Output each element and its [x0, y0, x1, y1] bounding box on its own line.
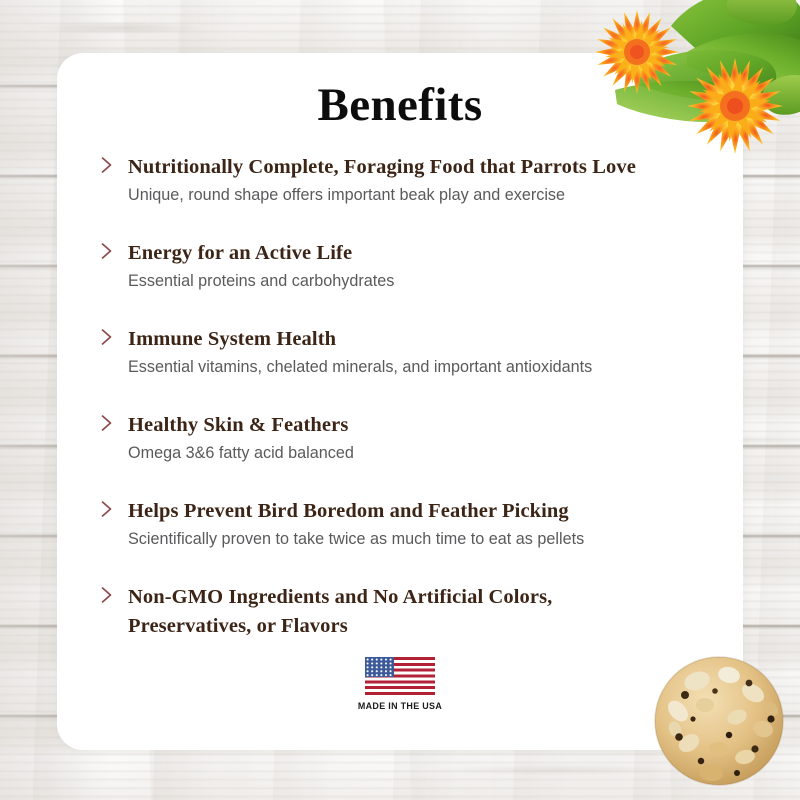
benefit-heading: Non-GMO Ingredients and No Artificial Co…: [128, 583, 719, 641]
benefits-list: Nutritionally Complete, Foraging Food th…: [93, 153, 719, 644]
benefit-subtext: Essential proteins and carbohydrates: [128, 271, 719, 293]
chevron-right-icon: [100, 500, 114, 518]
benefit-item: Healthy Skin & Feathers Omega 3&6 fatty …: [93, 411, 719, 465]
benefit-item: Helps Prevent Bird Boredom and Feather P…: [93, 497, 719, 551]
benefit-heading: Immune System Health: [128, 325, 719, 354]
benefit-subtext: Unique, round shape offers important bea…: [128, 185, 719, 207]
chevron-right-icon: [100, 156, 114, 174]
chevron-right-icon: [100, 586, 114, 604]
benefit-subtext: Omega 3&6 fatty acid balanced: [128, 443, 719, 465]
benefit-heading: Energy for an Active Life: [128, 239, 719, 268]
screenshot-root: Benefits Nutritionally Complete, Foragin…: [0, 0, 800, 800]
benefit-item: Nutritionally Complete, Foraging Food th…: [93, 153, 719, 207]
benefit-heading: Healthy Skin & Feathers: [128, 411, 719, 440]
benefit-heading: Nutritionally Complete, Foraging Food th…: [128, 153, 719, 182]
benefit-item: Immune System Health Essential vitamins,…: [93, 325, 719, 379]
benefit-subtext: Scientifically proven to take twice as m…: [128, 529, 719, 551]
benefits-card: Benefits Nutritionally Complete, Foragin…: [57, 53, 743, 750]
chevron-right-icon: [100, 414, 114, 432]
flag-stars: [365, 657, 394, 677]
flag-canton: [365, 657, 394, 677]
made-in-usa-label: MADE IN THE USA: [357, 701, 443, 712]
page-title: Benefits: [57, 78, 743, 132]
chevron-right-icon: [100, 328, 114, 346]
benefit-subtext: Essential vitamins, chelated minerals, a…: [128, 357, 719, 379]
usa-flag-icon: [365, 657, 435, 695]
benefit-item: Non-GMO Ingredients and No Artificial Co…: [93, 583, 719, 641]
benefit-item: Energy for an Active Life Essential prot…: [93, 239, 719, 293]
benefit-heading: Helps Prevent Bird Boredom and Feather P…: [128, 497, 719, 526]
made-in-usa-badge: MADE IN THE USA: [354, 657, 446, 712]
chevron-right-icon: [100, 242, 114, 260]
